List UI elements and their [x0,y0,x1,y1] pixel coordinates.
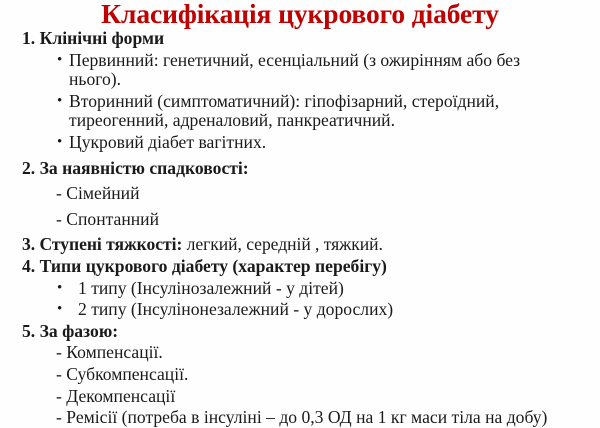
list-item: •Цукровий діабет вагітних. [57,133,600,153]
section-title-5: За фазою: [40,321,119,341]
section-number-4: 4. [22,256,35,276]
list-item-label: Декомпенсації [66,386,175,406]
list-item-label: Сімейний [66,183,139,203]
list-item-label: Ремісії (потреба в інсуліні – до 0,3 ОД … [66,407,547,427]
dash-icon: - [56,386,62,406]
dash-icon: - [56,209,62,229]
bullet-icon: • [57,279,62,299]
classification-list: 1. Клінічні форми •Первинний: генетичний… [0,29,600,428]
list-item: - Декомпенсації [56,387,600,407]
list-item: - Субкомпенсації. [56,365,600,385]
list-item-label: Цукровий діабет вагітних. [69,132,266,152]
list-item: - Ремісії (потреба в інсуліні – до 0,3 О… [56,408,600,428]
dash-icon: - [56,364,62,384]
dash-icon: - [56,342,62,362]
list-item: - Компенсації. [56,343,600,363]
section-trailing-text-3: легкий, середній , тяжкий. [187,234,383,254]
bullet-icon: • [57,300,62,320]
list-item: •1 типу (Інсулінозалежний - у дітей) [57,279,600,299]
page-title: Класифікація цукрового діабету [0,0,600,29]
list-item: - Спонтанний [56,210,600,230]
section-heading-1: 1. Клінічні форми [22,29,600,49]
section-heading-5: 5. За фазою: [22,322,600,342]
section-number-1: 1. [22,28,35,48]
list-item-label: Первинний: генетичний, есенціальний (з о… [69,50,520,90]
section-number-2: 2. [22,158,35,178]
bullet-icon: • [57,92,62,112]
section-title-4: Типи цукрового діабету (характер перебіг… [40,256,387,276]
section-title-1: Клінічні форми [40,28,165,48]
bullet-icon: • [57,133,62,153]
list-item: •Вторинний (симптоматичний): гіпофізарни… [57,92,600,131]
list-item-label: 2 типу (Інсулінонезалежний - у дорослих) [78,299,393,319]
section-title-2: За наявністю спадковості: [40,158,249,178]
list-item-label: Компенсації. [66,342,163,362]
section-number-5: 5. [22,321,35,341]
section-heading-3: 3. Ступені тяжкості: легкий, середній , … [22,235,600,255]
section-number-3: 3. [22,234,35,254]
list-item-label: 1 типу (Інсулінозалежний - у дітей) [78,278,344,298]
section-heading-2: 2. За наявністю спадковості: [22,159,600,179]
slide: Класифікація цукрового діабету 1. Клініч… [0,0,600,427]
dash-icon: - [56,407,62,427]
list-item: •Первинний: генетичний, есенціальний (з … [57,51,600,90]
section-title-3: Ступені тяжкості: [39,234,182,254]
bullet-icon: • [57,51,62,71]
section-heading-4: 4. Типи цукрового діабету (характер пере… [22,257,600,277]
list-item: •2 типу (Інсулінонезалежний - у дорослих… [57,300,600,320]
dash-icon: - [56,183,62,203]
list-item: - Сімейний [56,184,600,204]
list-item-label: Вторинний (симптоматичний): гіпофізарний… [69,91,499,131]
list-item-label: Спонтанний [66,209,159,229]
list-item-label: Субкомпенсації. [66,364,188,384]
